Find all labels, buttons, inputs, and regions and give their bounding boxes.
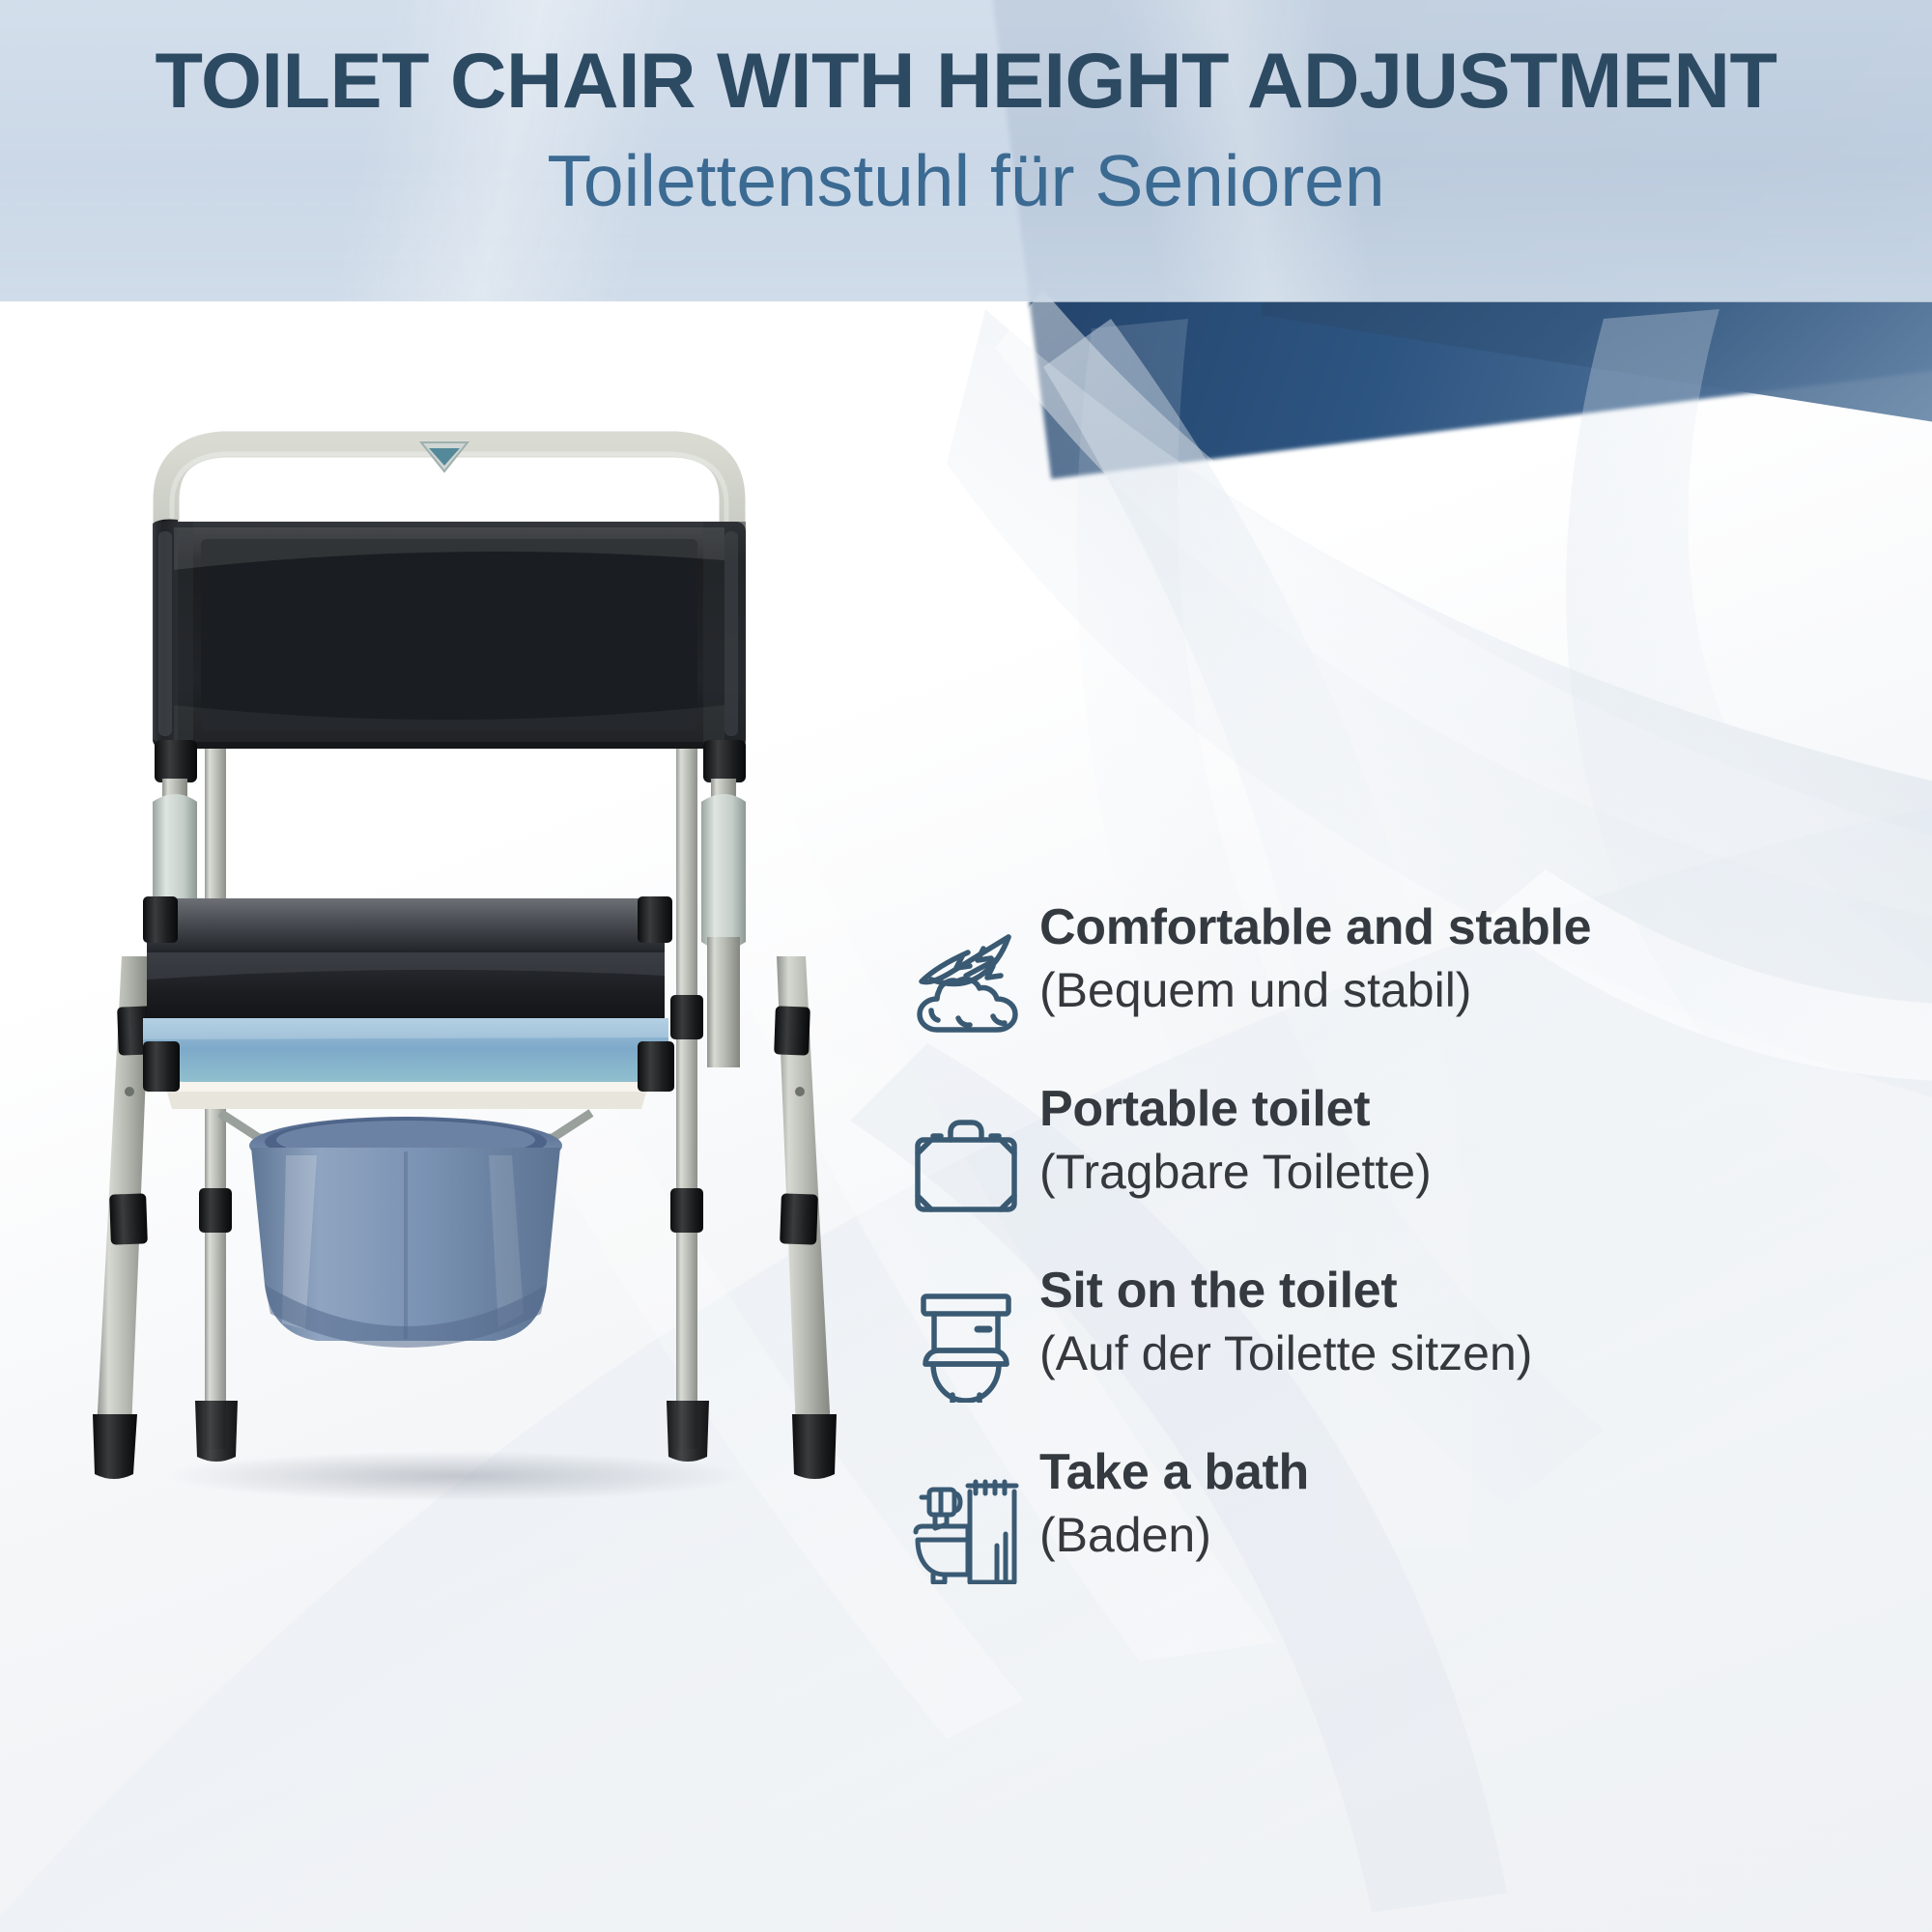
infographic-canvas: TOILET CHAIR WITH HEIGHT ADJUSTMENT Toil… [0, 0, 1932, 1932]
suitcase-icon [908, 1105, 1024, 1221]
feature-list: Comfortable and stable (Bequem und stabi… [908, 898, 1913, 1625]
feature-title: Take a bath [1039, 1443, 1913, 1502]
product-image-commode-chair [58, 415, 889, 1526]
toilet-icon [908, 1287, 1024, 1403]
feature-title: Sit on the toilet [1039, 1262, 1913, 1321]
feature-title: Comfortable and stable [1039, 898, 1913, 957]
feature-subtitle: (Bequem und stabil) [1039, 961, 1913, 1019]
feature-subtitle: (Baden) [1039, 1506, 1913, 1564]
feature-item-take-a-bath: Take a bath (Baden) [908, 1443, 1913, 1596]
feature-subtitle: (Tragbare Toilette) [1039, 1143, 1913, 1201]
page-title: TOILET CHAIR WITH HEIGHT ADJUSTMENT [0, 43, 1932, 121]
page-subtitle: Toilettenstuhl für Senioren [0, 145, 1932, 217]
bathroom-shower-curtain-icon [908, 1468, 1024, 1584]
feature-item-comfortable-and-stable: Comfortable and stable (Bequem und stabi… [908, 898, 1913, 1051]
feather-on-cloud-icon [908, 923, 1024, 1039]
feature-subtitle: (Auf der Toilette sitzen) [1039, 1324, 1913, 1382]
feature-item-portable-toilet: Portable toilet (Tragbare Toilette) [908, 1080, 1913, 1233]
feature-title: Portable toilet [1039, 1080, 1913, 1139]
feature-item-sit-on-the-toilet: Sit on the toilet (Auf der Toilette sitz… [908, 1262, 1913, 1414]
